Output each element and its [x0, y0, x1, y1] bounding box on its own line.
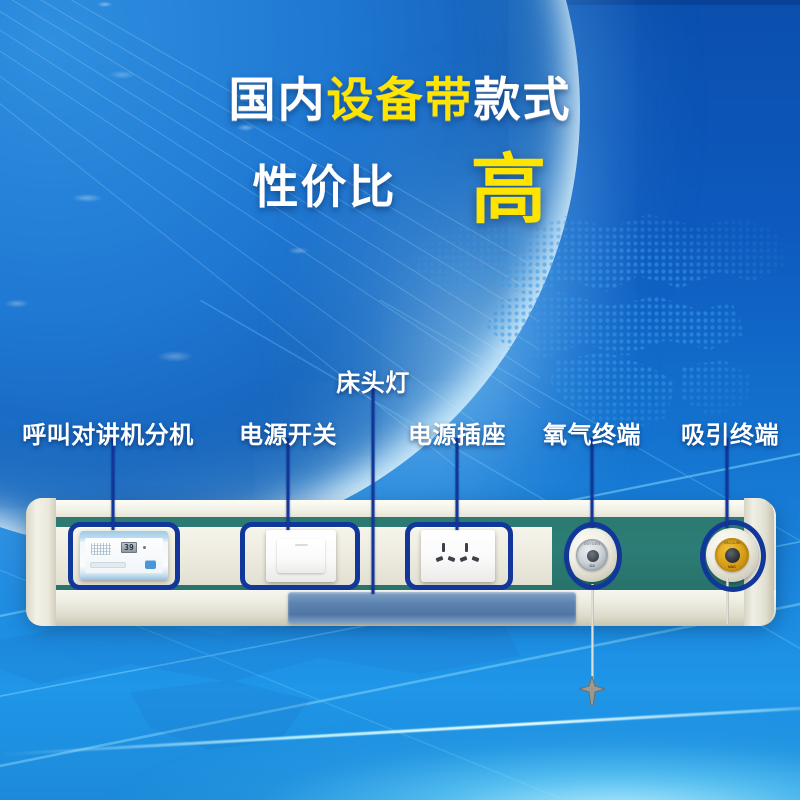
callout-label-0: 呼叫对讲机分机 [22, 415, 194, 450]
headline-block: 国内设备带款式 性价比 高 [0, 76, 800, 225]
leader-line-3 [456, 438, 459, 530]
headline-part-1: 国内 [229, 73, 327, 126]
callout-label-5: 吸引终端 [681, 415, 779, 450]
leader-line-1 [287, 438, 290, 530]
headline-accent: 设备带 [327, 73, 474, 126]
callout-label-4: 氧气终端 [543, 415, 641, 450]
callout-label-3: 电源插座 [408, 415, 506, 450]
poster-canvas: 国内设备带款式 性价比 高 39 [0, 0, 800, 800]
leader-line-5 [726, 438, 729, 528]
leader-line-2 [372, 386, 375, 594]
headline-line-2: 性价比 高 [0, 149, 800, 225]
callout-label-2: 床头灯 [336, 363, 410, 398]
headline-line-1: 国内设备带款式 [0, 76, 800, 123]
headline-part-3: 款式 [474, 73, 572, 126]
leader-line-4 [591, 438, 594, 528]
leader-line-0 [112, 438, 115, 530]
headline-subtitle: 性价比 [253, 164, 397, 210]
headline-emphasis: 高 [471, 153, 548, 229]
callout-label-1: 电源开关 [239, 415, 337, 450]
